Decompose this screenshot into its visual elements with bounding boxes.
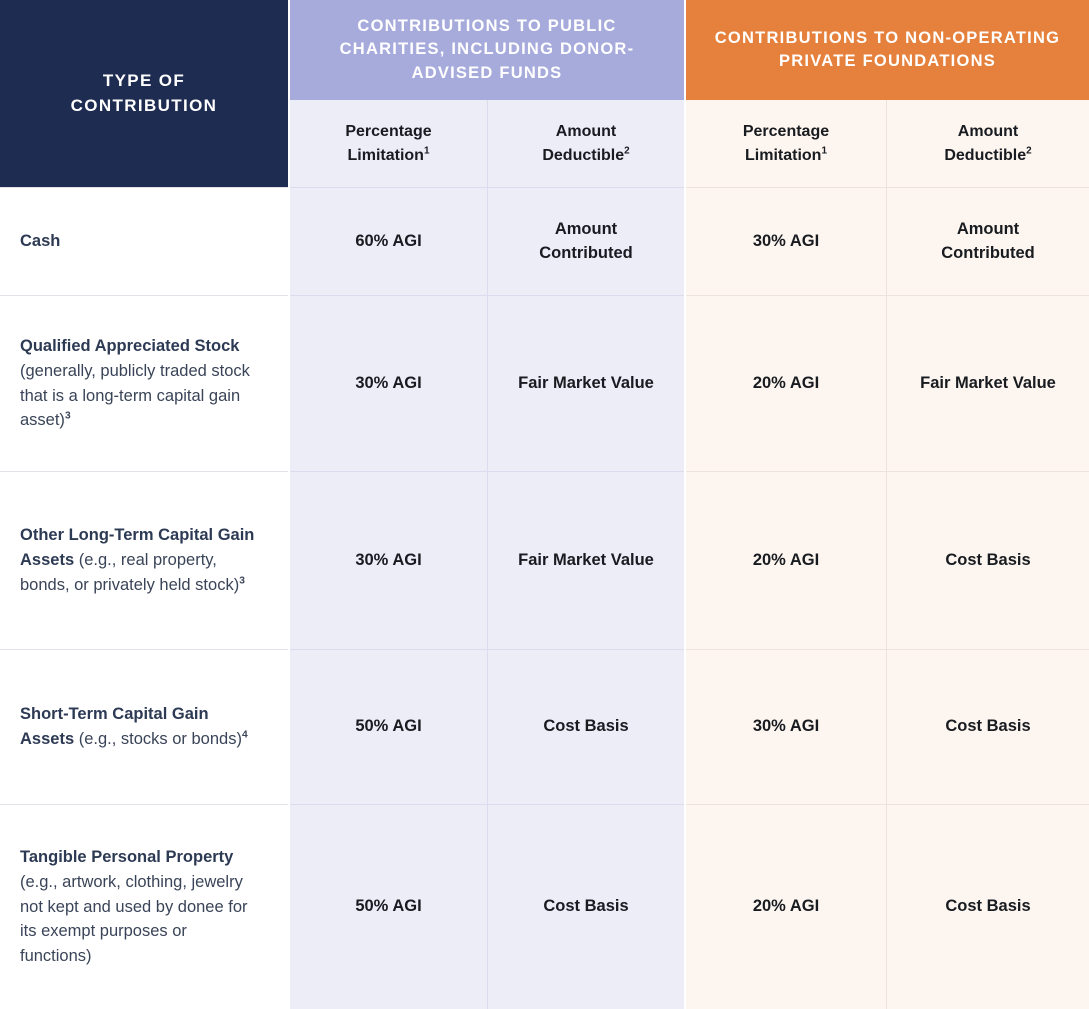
sub-header-line-2: Deductible <box>542 147 624 164</box>
sub-header-pf-amount-deductible: Amount Deductible2 <box>886 100 1089 187</box>
group-header-private-foundations: CONTRIBUTIONS TO NON-OPERATING PRIVATE F… <box>686 0 1089 100</box>
footnote-marker: 1 <box>424 145 430 156</box>
public-amount-deductible-value: Amount Contributed <box>487 187 684 295</box>
pf-amount-deductible-value: Cost Basis <box>886 649 1089 804</box>
table-row: Qualified Appreciated Stock (generally, … <box>0 295 1089 471</box>
contribution-deduction-table-container: TYPE OF CONTRIBUTION CONTRIBUTIONS TO PU… <box>0 0 1089 844</box>
pf-amount-deductible-value: Cost Basis <box>886 471 1089 649</box>
footnote-marker: 2 <box>624 145 630 156</box>
sub-header-line-1: Percentage <box>743 123 829 140</box>
contribution-type-cell: Tangible Personal Property (e.g., artwor… <box>0 804 288 1009</box>
row-header-type-of-contribution: TYPE OF CONTRIBUTION <box>0 0 288 187</box>
footnote-marker: 4 <box>242 730 248 741</box>
sub-header-line-1: Percentage <box>345 123 431 140</box>
table-row: Short-Term Capital Gain Assets (e.g., st… <box>0 649 1089 804</box>
contribution-type-cell: Qualified Appreciated Stock (generally, … <box>0 295 288 471</box>
row-header-line-1: TYPE OF <box>103 71 185 90</box>
value-line-1: Amount <box>957 220 1019 238</box>
pf-percentage-limitation-value: 30% AGI <box>686 649 886 804</box>
pf-percentage-limitation-value: 20% AGI <box>686 295 886 471</box>
pf-percentage-limitation-value: 30% AGI <box>686 187 886 295</box>
table-body: Cash 60% AGI Amount Contributed 30% AGI … <box>0 187 1089 1009</box>
footnote-marker: 2 <box>1026 145 1032 156</box>
public-percentage-limitation-value: 60% AGI <box>290 187 487 295</box>
sub-header-pf-percentage-limitation: Percentage Limitation1 <box>686 100 886 187</box>
group-header-public-charities: CONTRIBUTIONS TO PUBLIC CHARITIES, INCLU… <box>290 0 684 100</box>
sub-header-public-amount-deductible: Amount Deductible2 <box>487 100 684 187</box>
table-row: Tangible Personal Property (e.g., artwor… <box>0 804 1089 1009</box>
public-percentage-limitation-value: 50% AGI <box>290 649 487 804</box>
group-header-row: TYPE OF CONTRIBUTION CONTRIBUTIONS TO PU… <box>0 0 1089 100</box>
contribution-type-title: Cash <box>20 232 60 250</box>
public-amount-deductible-value: Cost Basis <box>487 804 684 1009</box>
contribution-type-cell: Cash <box>0 187 288 295</box>
public-amount-deductible-value: Fair Market Value <box>487 295 684 471</box>
row-header-line-2: CONTRIBUTION <box>71 96 218 115</box>
contribution-type-desc: (e.g., artwork, clothing, jewelry not ke… <box>20 873 248 965</box>
table-row: Other Long-Term Capital Gain Assets (e.g… <box>0 471 1089 649</box>
contribution-type-title: Tangible Personal Property <box>20 848 233 866</box>
contribution-type-desc: (generally, publicly traded stock that i… <box>20 362 250 430</box>
footnote-marker: 3 <box>239 575 245 586</box>
sub-header-line-2: Limitation <box>745 147 821 164</box>
contribution-type-title: Qualified Appreciated Stock <box>20 337 239 355</box>
sub-header-line-2: Limitation <box>348 147 424 164</box>
public-percentage-limitation-value: 30% AGI <box>290 471 487 649</box>
sub-header-line-2: Deductible <box>944 147 1026 164</box>
value-line-2: Contributed <box>941 244 1034 262</box>
footnote-marker: 3 <box>65 411 71 422</box>
public-amount-deductible-value: Cost Basis <box>487 649 684 804</box>
footnote-marker: 1 <box>821 145 827 156</box>
pf-percentage-limitation-value: 20% AGI <box>686 804 886 1009</box>
pf-percentage-limitation-value: 20% AGI <box>686 471 886 649</box>
table-head: TYPE OF CONTRIBUTION CONTRIBUTIONS TO PU… <box>0 0 1089 187</box>
sub-header-line-1: Amount <box>958 123 1018 140</box>
value-line-1: Amount <box>555 220 617 238</box>
pf-amount-deductible-value: Cost Basis <box>886 804 1089 1009</box>
sub-header-line-1: Amount <box>556 123 616 140</box>
pf-amount-deductible-value: Amount Contributed <box>886 187 1089 295</box>
pf-amount-deductible-value: Fair Market Value <box>886 295 1089 471</box>
public-percentage-limitation-value: 30% AGI <box>290 295 487 471</box>
sub-header-public-percentage-limitation: Percentage Limitation1 <box>290 100 487 187</box>
contribution-type-cell: Short-Term Capital Gain Assets (e.g., st… <box>0 649 288 804</box>
public-amount-deductible-value: Fair Market Value <box>487 471 684 649</box>
contribution-type-desc: (e.g., stocks or bonds) <box>79 730 242 748</box>
table-row: Cash 60% AGI Amount Contributed 30% AGI … <box>0 187 1089 295</box>
contribution-type-cell: Other Long-Term Capital Gain Assets (e.g… <box>0 471 288 649</box>
contribution-deduction-table: TYPE OF CONTRIBUTION CONTRIBUTIONS TO PU… <box>0 0 1089 1009</box>
public-percentage-limitation-value: 50% AGI <box>290 804 487 1009</box>
value-line-2: Contributed <box>539 244 632 262</box>
